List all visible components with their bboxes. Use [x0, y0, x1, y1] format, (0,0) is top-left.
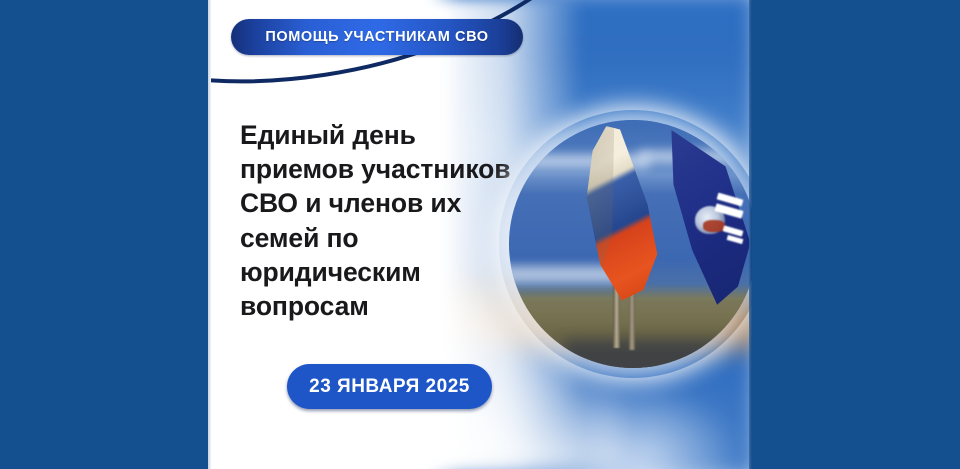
- emblem-text-line: [723, 225, 744, 236]
- event-date-badge[interactable]: 23 ЯНВАРЯ 2025: [287, 364, 492, 409]
- side-panel-left: [0, 0, 208, 469]
- page-title: Единый день приемов участников СВО и чле…: [240, 118, 530, 323]
- united-russia-emblem-icon: [695, 194, 745, 248]
- flag-pole-right: [629, 288, 635, 350]
- event-date-label: 23 ЯНВАРЯ 2025: [309, 376, 470, 398]
- side-panel-right: [752, 0, 960, 469]
- card-edge-left: [208, 0, 211, 469]
- photo-desk-shadow: [564, 340, 752, 368]
- help-participants-badge[interactable]: ПОМОЩЬ УЧАСТНИКАМ СВО: [231, 19, 523, 55]
- help-participants-badge-label: ПОМОЩЬ УЧАСТНИКАМ СВО: [265, 29, 488, 45]
- flags-photo-circle: [509, 120, 752, 368]
- flags-photo-image: [509, 120, 752, 368]
- card-edge-right: [749, 0, 752, 469]
- poster-card: ПОМОЩЬ УЧАСТНИКАМ СВО Единый день приемо…: [211, 0, 752, 469]
- poster-canvas: ПОМОЩЬ УЧАСТНИКАМ СВО Единый день приемо…: [0, 0, 960, 469]
